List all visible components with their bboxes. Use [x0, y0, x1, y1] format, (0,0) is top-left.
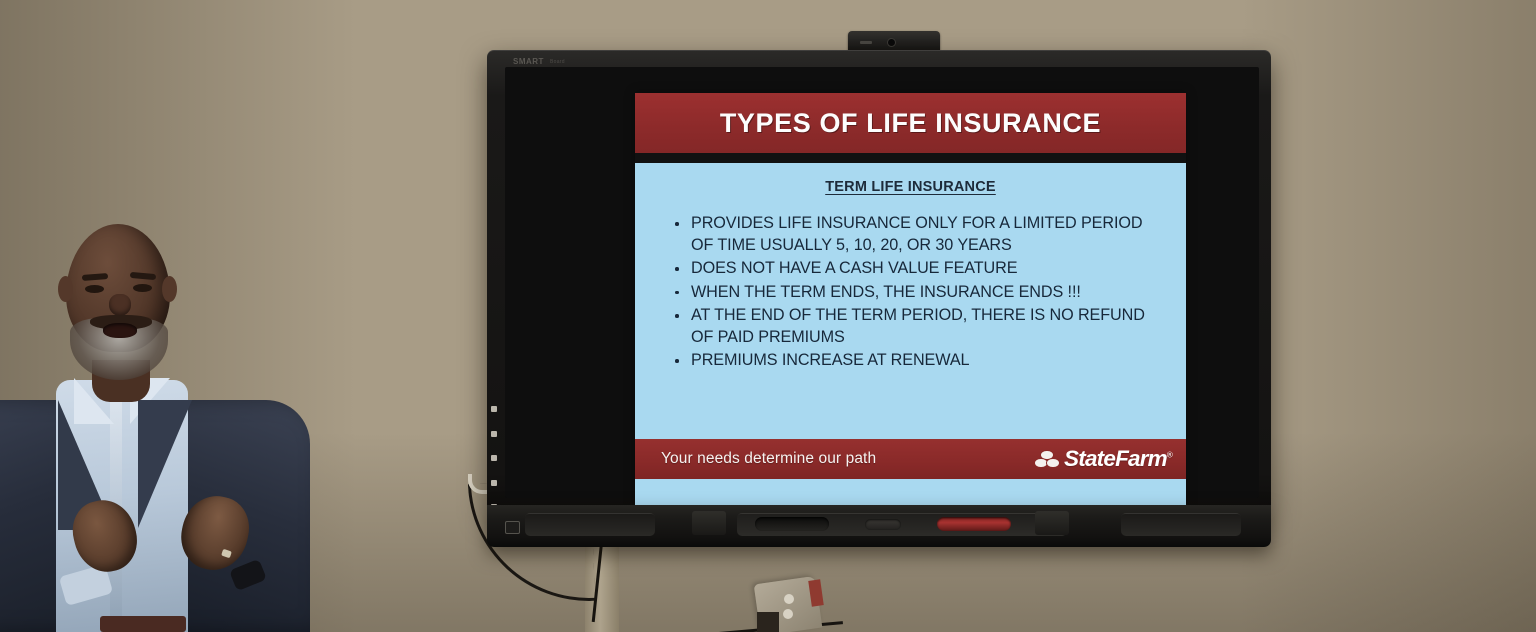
interactive-display[interactable]: SMART Board TYPES OF LIFE INSURANCE TERM… [487, 50, 1271, 510]
floor-object-dot-icon [783, 609, 793, 619]
nose [109, 294, 131, 316]
tray-badge-icon [505, 521, 520, 534]
mouth [103, 323, 137, 338]
port-led-icon [491, 431, 497, 437]
tray-recess-left [525, 513, 655, 536]
display-screen[interactable]: TYPES OF LIFE INSURANCE TERM LIFE INSURA… [505, 67, 1259, 498]
display-pen-tray[interactable] [487, 505, 1271, 547]
tray-button-right[interactable] [1035, 511, 1069, 535]
list-item: WHEN THE TERM ENDS, THE INSURANCE ENDS !… [675, 282, 1164, 304]
ear-left [58, 276, 73, 302]
oval-right-icon [1046, 458, 1060, 469]
list-item: AT THE END OF THE TERM PERIOD, THERE IS … [675, 305, 1164, 348]
floor-object-shadow [757, 612, 779, 632]
slide-subtitle: TERM LIFE INSURANCE [657, 179, 1164, 195]
port-led-icon [491, 406, 497, 412]
registered-trademark-icon: ® [1167, 450, 1172, 459]
webcam-lens-icon [888, 39, 895, 46]
lapel-right [138, 400, 192, 528]
eraser-slot[interactable] [865, 519, 901, 530]
red-pen-slot[interactable] [937, 517, 1011, 531]
state-farm-wordmark-text: StateFarm [1064, 446, 1167, 471]
port-led-icon [491, 455, 497, 461]
side-port-strip[interactable] [488, 402, 500, 514]
presentation-scene: SMART Board TYPES OF LIFE INSURANCE TERM… [0, 0, 1536, 632]
slide-title-bar: TYPES OF LIFE INSURANCE [635, 93, 1186, 153]
state-farm-wordmark: StateFarm® [1064, 448, 1172, 471]
footer-tagline: Your needs determine our path [661, 450, 876, 468]
bullet-line-1: DOES NOT HAVE A CASH VALUE FEATURE [691, 259, 1017, 277]
slide-footer-bar: Your needs determine our path StateFarm® [635, 439, 1186, 479]
three-ovals-icon [1034, 450, 1060, 469]
list-item: PREMIUMS INCREASE AT RENEWAL [675, 350, 1164, 372]
display-brand-sub-label: Board [550, 59, 565, 65]
slide-title: TYPES OF LIFE INSURANCE [720, 108, 1101, 139]
list-item: PROVIDES LIFE INSURANCE ONLY FOR A LIMIT… [675, 213, 1164, 256]
state-farm-logo: StateFarm® [1034, 448, 1172, 471]
bullet-line-2: OF PAID PREMIUMS [691, 327, 1164, 349]
list-item: DOES NOT HAVE A CASH VALUE FEATURE [675, 258, 1164, 280]
presentation-slide[interactable]: TYPES OF LIFE INSURANCE TERM LIFE INSURA… [635, 93, 1186, 507]
port-led-icon [491, 480, 497, 486]
slide-divider [635, 153, 1186, 163]
tray-button-left[interactable] [692, 511, 726, 535]
bullet-line-1: WHEN THE TERM ENDS, THE INSURANCE ENDS !… [691, 283, 1081, 301]
bullet-line-1: PROVIDES LIFE INSURANCE ONLY FOR A LIMIT… [691, 214, 1142, 232]
eye-right [133, 284, 152, 292]
slide-bottom-strip [635, 479, 1186, 507]
ear-right [162, 276, 177, 302]
floor-object-dot-icon [784, 594, 794, 604]
slide-bullet-list: PROVIDES LIFE INSURANCE ONLY FOR A LIMIT… [657, 213, 1164, 372]
eye-left [85, 285, 104, 293]
bullet-line-1: PREMIUMS INCREASE AT RENEWAL [691, 351, 969, 369]
tray-recess-right [1121, 513, 1241, 536]
display-brand-label: SMART [513, 57, 544, 66]
slide-body: TERM LIFE INSURANCE PROVIDES LIFE INSURA… [635, 163, 1186, 439]
bullet-line-1: AT THE END OF THE TERM PERIOD, THERE IS … [691, 306, 1145, 324]
webcam-led-icon [860, 41, 872, 44]
bullet-line-2: OF TIME USUALLY 5, 10, 20, OR 30 YEARS [691, 235, 1164, 257]
black-pen-slot[interactable] [755, 517, 829, 531]
presenter [0, 218, 330, 632]
belt [100, 616, 186, 632]
